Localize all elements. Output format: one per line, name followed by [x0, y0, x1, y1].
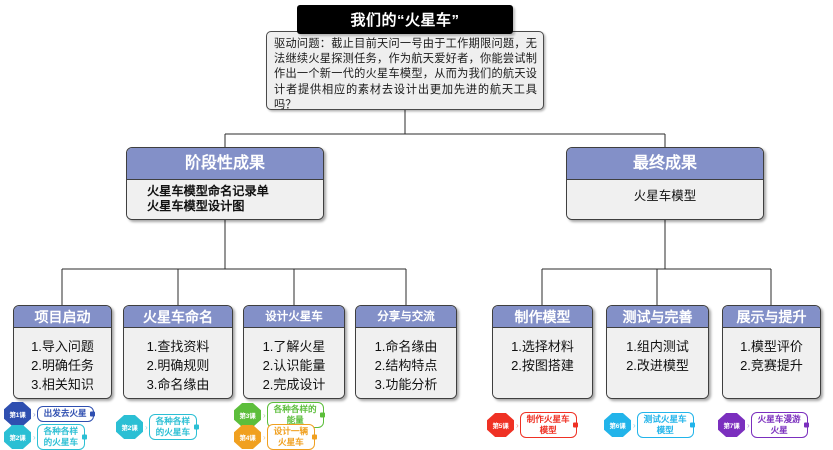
step-card-showcase-body: 1.模型评价 2.竞赛提升: [723, 328, 820, 399]
outcome-card-final[interactable]: 最终成果 火星车模型: [566, 147, 764, 220]
lesson-badge-2a-number: 第2课: [4, 425, 31, 449]
step-card-test-header: 测试与完善: [607, 306, 708, 328]
lesson-badge-2a-label: 各种各样 的火星车: [37, 424, 85, 450]
step-card-test[interactable]: 测试与完善 1.组内测试 2.改进模型: [606, 305, 709, 399]
pill-dot-icon: [82, 435, 87, 440]
chevron-right-icon: ›: [516, 421, 519, 430]
lesson-badge-2b[interactable]: 第2课 › 各种各样 的火星车: [116, 414, 197, 440]
step-card-build[interactable]: 制作模型 1.选择材料 2.按图搭建: [492, 305, 593, 399]
step-card-naming-body: 1.查找资料 2.明确规则 3.命名缘由: [124, 328, 232, 399]
lesson-badge-1-number: 第1课: [4, 402, 31, 426]
lesson-badge-5[interactable]: 第5课 › 制作火星车 模型: [487, 412, 577, 438]
chevron-right-icon: ›: [145, 423, 148, 432]
lesson-badge-1-label: 出发去火星: [37, 406, 94, 422]
step-card-naming[interactable]: 火星车命名 1.查找资料 2.明确规则 3.命名缘由: [123, 305, 233, 399]
pill-dot-icon: [690, 423, 695, 428]
step-card-project-start[interactable]: 项目启动 1.导入问题 2.明确任务 3.相关知识: [13, 305, 112, 399]
lesson-badge-7-number: 第7课: [718, 413, 745, 437]
pill-dot-icon: [573, 423, 578, 428]
lesson-badge-2b-label: 各种各样 的火星车: [149, 414, 197, 440]
lesson-badge-5-number: 第5课: [487, 413, 514, 437]
pill-dot-icon: [90, 412, 95, 417]
step-card-build-header: 制作模型: [493, 306, 592, 328]
chevron-right-icon: ›: [33, 410, 36, 419]
step-card-showcase[interactable]: 展示与提升 1.模型评价 2.竞赛提升: [722, 305, 821, 399]
step-card-design-body: 1.了解火星 2.认识能量 2.完成设计: [244, 328, 344, 399]
chevron-right-icon: ›: [263, 433, 266, 442]
step-card-showcase-header: 展示与提升: [723, 306, 820, 328]
step-card-share[interactable]: 分享与交流 1.命名缘由 2.结构特点 3.功能分析: [355, 305, 457, 399]
lesson-badge-4-number: 第4课: [234, 425, 261, 449]
outcome-card-stage-body: 火星车模型命名记录单 火星车模型设计图: [127, 180, 323, 220]
step-card-build-body: 1.选择材料 2.按图搭建: [493, 328, 592, 399]
step-card-design[interactable]: 设计火星车 1.了解火星 2.认识能量 2.完成设计: [243, 305, 345, 399]
pill-dot-icon: [194, 425, 199, 430]
chevron-right-icon: ›: [633, 421, 636, 430]
outcome-card-stage-header: 阶段性成果: [127, 148, 323, 180]
pill-dot-icon: [804, 423, 809, 428]
lesson-badge-6-label: 测试火星车 模型: [637, 412, 694, 438]
lesson-badge-7[interactable]: 第7课 › 火星车漫游 火星: [718, 412, 808, 438]
step-card-naming-header: 火星车命名: [124, 306, 232, 328]
step-card-design-header: 设计火星车: [244, 306, 344, 328]
step-card-share-header: 分享与交流: [356, 306, 456, 328]
chevron-right-icon: ›: [747, 421, 750, 430]
lesson-badge-4[interactable]: 第4课 › 设计一辆 火星车: [234, 424, 315, 450]
lesson-badge-2b-number: 第2课: [116, 415, 143, 439]
step-card-share-body: 1.命名缘由 2.结构特点 3.功能分析: [356, 328, 456, 399]
lesson-badge-6-number: 第6课: [604, 413, 631, 437]
lesson-badge-7-label: 火星车漫游 火星: [751, 412, 808, 438]
pill-dot-icon: [312, 435, 317, 440]
outcome-card-final-header: 最终成果: [567, 148, 763, 180]
diagram-canvas: 我们的“火星车” 驱动问题：截止目前天问一号由于工作期限问题，无法继续火星探测任…: [0, 0, 833, 448]
outcome-card-stage[interactable]: 阶段性成果 火星车模型命名记录单 火星车模型设计图: [126, 147, 324, 220]
lesson-badge-5-label: 制作火星车 模型: [520, 412, 577, 438]
lesson-badge-2a[interactable]: 第2课 › 各种各样 的火星车: [4, 424, 85, 450]
driving-question-box: 驱动问题：截止目前天问一号由于工作期限问题，无法继续火星探测任务，作为航天爱好者…: [266, 31, 544, 110]
pill-dot-icon: [320, 413, 325, 418]
chevron-right-icon: ›: [263, 411, 266, 420]
step-card-project-start-header: 项目启动: [14, 306, 111, 328]
page-title: 我们的“火星车”: [297, 5, 513, 34]
chevron-right-icon: ›: [33, 433, 36, 442]
lesson-badge-1[interactable]: 第1课 › 出发去火星: [4, 402, 94, 426]
step-card-test-body: 1.组内测试 2.改进模型: [607, 328, 708, 399]
lesson-badge-4-label: 设计一辆 火星车: [267, 424, 315, 450]
outcome-card-final-body: 火星车模型: [567, 180, 763, 220]
step-card-project-start-body: 1.导入问题 2.明确任务 3.相关知识: [14, 328, 111, 399]
lesson-badge-6[interactable]: 第6课 › 测试火星车 模型: [604, 412, 694, 438]
